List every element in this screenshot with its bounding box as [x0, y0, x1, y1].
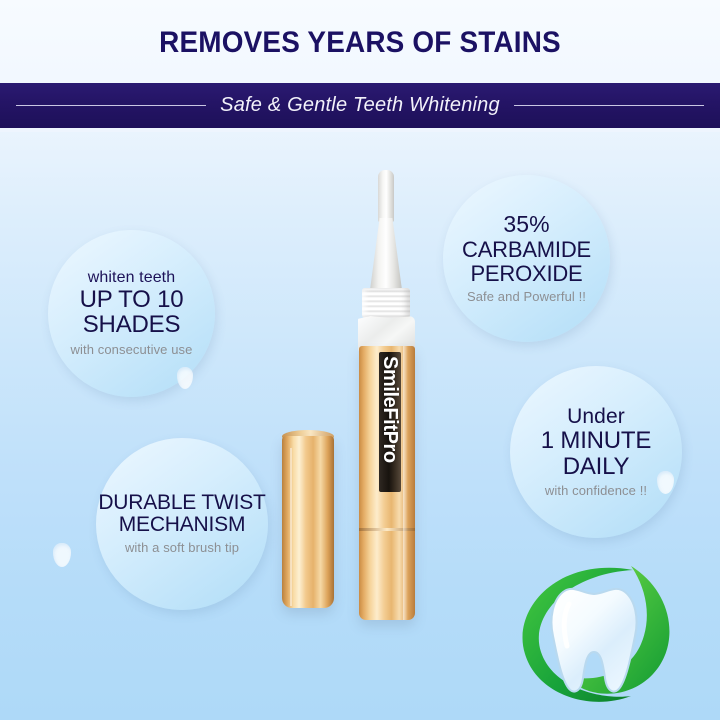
feature-minute-headline: 1 MINUTE DAILY	[541, 428, 651, 479]
feature-peroxide-eyebrow: 35%	[503, 212, 549, 237]
pen-cap-body	[282, 436, 334, 608]
feature-peroxide-subtext: Safe and Powerful !!	[467, 290, 586, 305]
page-title: REMOVES YEARS OF STAINS	[25, 26, 695, 60]
header-zone: REMOVES YEARS OF STAINS Safe & Gentle Te…	[0, 0, 720, 132]
feature-minute-eyebrow: Under	[567, 405, 625, 428]
pen-cone	[370, 218, 402, 290]
page-subtitle: Safe & Gentle Teeth Whitening	[206, 94, 514, 117]
feature-twist-subtext: with a soft brush tip	[125, 541, 239, 556]
pen-cap	[280, 430, 336, 615]
pen-brand-label: SmileFitPro	[377, 356, 403, 496]
water-droplet-icon	[177, 367, 193, 389]
feature-minute-subtext: with confidence !!	[545, 484, 647, 499]
pen-gloss-highlight	[403, 346, 408, 620]
feature-shades-eyebrow: whiten teeth	[88, 269, 175, 287]
whitening-pen: SmileFitPro	[352, 170, 420, 620]
product-infographic: REMOVES YEARS OF STAINS Safe & Gentle Te…	[0, 0, 720, 720]
feature-shades-headline: UP TO 10 SHADES	[80, 287, 184, 338]
feature-badge-minute: Under 1 MINUTE DAILY with confidence !!	[510, 366, 682, 538]
water-droplet-icon	[53, 543, 71, 567]
pen-brush-tip	[378, 170, 394, 222]
feature-badge-peroxide: 35% CARBAMIDE PEROXIDE Safe and Powerful…	[443, 175, 610, 342]
feature-twist-headline: DURABLE TWIST MECHANISM	[98, 492, 265, 537]
tooth-leaf-logo	[505, 548, 685, 710]
band-rule-left	[16, 105, 206, 106]
pen-cap-highlight	[290, 448, 292, 606]
band-rule-right	[514, 105, 704, 106]
pen-threaded-collar	[362, 288, 410, 318]
subtitle-band: Safe & Gentle Teeth Whitening	[0, 83, 720, 128]
feature-peroxide-headline: CARBAMIDE PEROXIDE	[462, 238, 591, 285]
feature-shades-subtext: with consecutive use	[71, 343, 193, 358]
pen-body: SmileFitPro	[359, 346, 415, 620]
feature-badge-twist: DURABLE TWIST MECHANISM with a soft brus…	[96, 438, 268, 610]
